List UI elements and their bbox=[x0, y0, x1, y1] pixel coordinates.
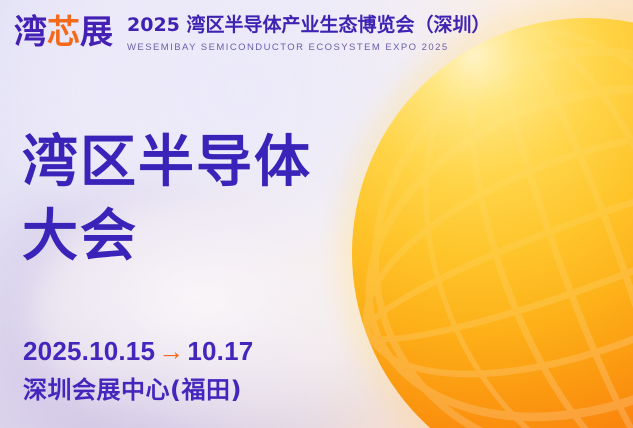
expo-subtitle-english: WESEMIBAY SEMICONDUCTOR ECOSYSTEM EXPO 2… bbox=[127, 43, 491, 53]
globe-body bbox=[352, 18, 633, 428]
decorative-globe bbox=[352, 18, 633, 428]
event-date-end: 10.17 bbox=[187, 336, 253, 366]
globe-glow bbox=[336, 2, 633, 428]
logo-char-wan: 湾 bbox=[14, 12, 47, 51]
banner-header: 湾芯展 2025 湾区半导体产业生态博览会（深圳） WESEMIBAY SEMI… bbox=[14, 13, 491, 53]
hero-title: 湾区半导体 大会 bbox=[22, 126, 312, 274]
expo-logo: 湾芯展 bbox=[14, 15, 113, 48]
logo-char-xin: 芯 bbox=[47, 12, 80, 51]
arrow-right-icon: → bbox=[155, 336, 187, 366]
event-venue: 深圳会展中心(福田) bbox=[23, 376, 253, 404]
event-date-start: 2025.10.15 bbox=[23, 336, 155, 366]
header-text-block: 2025 湾区半导体产业生态博览会（深圳） WESEMIBAY SEMICOND… bbox=[127, 13, 491, 53]
event-date: 2025.10.15→10.17 bbox=[23, 336, 253, 367]
event-banner: 湾芯展 2025 湾区半导体产业生态博览会（深圳） WESEMIBAY SEMI… bbox=[0, 0, 633, 428]
hero-title-line-2: 大会 bbox=[22, 200, 312, 274]
logo-char-zhan: 展 bbox=[80, 12, 113, 51]
globe-wireframe bbox=[352, 18, 633, 428]
expo-title: 2025 湾区半导体产业生态博览会（深圳） bbox=[127, 15, 491, 37]
hero-title-line-1: 湾区半导体 bbox=[22, 126, 312, 200]
event-info: 2025.10.15→10.17 深圳会展中心(福田) bbox=[23, 336, 253, 404]
